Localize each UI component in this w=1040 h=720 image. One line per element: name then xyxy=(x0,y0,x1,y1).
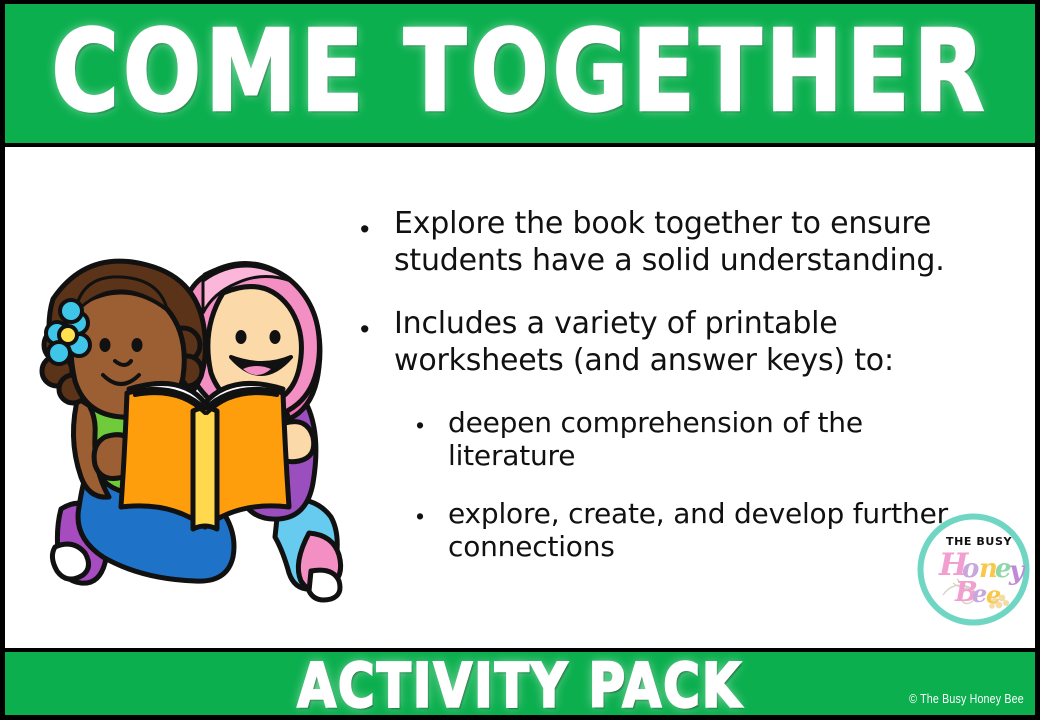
bullet-item: • Explore the book together to ensure st… xyxy=(360,206,985,280)
svg-text:y: y xyxy=(1008,556,1026,586)
bullet-item: • Includes a variety of printable worksh… xyxy=(360,306,985,380)
frame-border-top xyxy=(0,0,1040,4)
sub-bullet-text: deepen comprehension of the literature xyxy=(448,406,985,473)
bullet-text: Explore the book together to ensure stud… xyxy=(394,206,985,280)
frame-border-bottom xyxy=(0,715,1040,720)
the-busy-honey-bee-logo: THE BUSY H o n e y B e e xyxy=(917,513,1030,626)
copyright-notice: © The Busy Honey Bee xyxy=(909,691,1024,706)
svg-text:e: e xyxy=(972,579,987,608)
footer-banner: ACTIVITY PACK xyxy=(4,648,1036,720)
svg-text:e: e xyxy=(986,580,1001,609)
header-banner: COME TOGETHER xyxy=(4,0,1036,147)
bullet-text: Includes a variety of printable workshee… xyxy=(394,306,985,380)
reading-children-illustration xyxy=(27,241,357,621)
frame-border-right xyxy=(1035,0,1040,720)
page-title: COME TOGETHER xyxy=(52,15,989,127)
bullet-copy-block: • Explore the book together to ensure st… xyxy=(360,206,985,588)
slide-canvas: COME TOGETHER xyxy=(0,0,1040,720)
frame-border-left xyxy=(0,0,5,720)
footer-title: ACTIVITY PACK xyxy=(297,656,742,717)
sub-bullet-list: • deepen comprehension of the literature… xyxy=(416,406,985,564)
bullet-marker-icon: • xyxy=(416,497,448,528)
bullet-marker-icon: • xyxy=(416,406,448,437)
sub-bullet-item: • explore, create, and develop further c… xyxy=(416,497,985,564)
bullet-marker-icon: • xyxy=(360,206,394,243)
sub-bullet-text: explore, create, and develop further con… xyxy=(448,497,985,564)
content-area: • Explore the book together to ensure st… xyxy=(5,151,1035,648)
sub-bullet-item: • deepen comprehension of the literature xyxy=(416,406,985,473)
bullet-marker-icon: • xyxy=(360,306,394,343)
